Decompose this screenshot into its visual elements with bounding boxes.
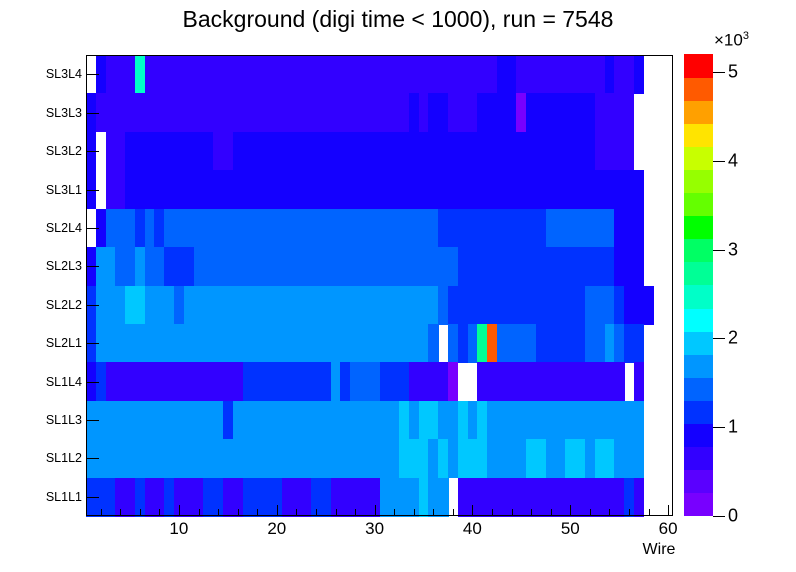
color-band bbox=[684, 424, 713, 448]
y-axis-label-sl1l1: SL1L1 bbox=[46, 490, 82, 504]
x-axis-tick bbox=[512, 509, 513, 516]
color-scale-tick-label: 4 bbox=[728, 150, 738, 171]
heatmap-cell bbox=[624, 132, 634, 171]
heatmap-cell bbox=[634, 170, 644, 209]
x-axis-tick bbox=[551, 509, 552, 516]
x-axis-tick bbox=[257, 509, 258, 516]
x-axis-tick bbox=[590, 509, 591, 516]
y-axis-tick bbox=[86, 266, 99, 267]
x-axis-tick bbox=[609, 509, 610, 516]
x-axis-tick bbox=[336, 509, 337, 516]
color-scale-tick-label: 1 bbox=[728, 417, 738, 438]
y-axis-label-sl2l1: SL2L1 bbox=[46, 336, 82, 350]
y-axis-tick bbox=[86, 458, 99, 459]
color-band bbox=[684, 193, 713, 217]
color-band bbox=[684, 493, 713, 517]
y-axis-label-sl3l2: SL3L2 bbox=[46, 144, 82, 158]
color-band bbox=[684, 123, 713, 147]
x-axis-tick bbox=[414, 509, 415, 516]
color-scale-exponent: ×103 bbox=[714, 30, 749, 51]
color-band bbox=[684, 331, 713, 355]
y-axis-label-sl2l4: SL2L4 bbox=[46, 221, 82, 235]
x-axis-tick bbox=[355, 509, 356, 516]
color-band bbox=[684, 285, 713, 309]
y-axis-tick bbox=[86, 343, 99, 344]
y-axis-tick bbox=[86, 382, 99, 383]
y-axis-tick bbox=[86, 420, 99, 421]
color-scale-tick bbox=[713, 161, 725, 162]
color-band bbox=[684, 170, 713, 194]
y-axis-tick bbox=[86, 228, 99, 229]
x-axis-tick bbox=[277, 505, 278, 516]
heatmap-cell bbox=[448, 362, 458, 401]
x-axis-tick bbox=[394, 509, 395, 516]
heatmap-cell bbox=[644, 286, 654, 325]
heatmap-cell bbox=[634, 401, 644, 440]
color-band bbox=[684, 470, 713, 494]
y-axis-label-sl2l2: SL2L2 bbox=[46, 298, 82, 312]
x-axis-tick bbox=[316, 509, 317, 516]
x-axis-tick-label: 40 bbox=[463, 519, 482, 539]
color-scale-tick-label: 3 bbox=[728, 239, 738, 260]
color-scale-tick bbox=[713, 427, 725, 428]
x-axis-tick-label: 30 bbox=[365, 519, 384, 539]
x-axis-tick bbox=[179, 505, 180, 516]
color-band bbox=[684, 146, 713, 170]
heatmap-cell bbox=[634, 362, 644, 401]
heatmap-cell bbox=[438, 478, 448, 517]
color-band bbox=[684, 401, 713, 425]
color-band bbox=[684, 239, 713, 263]
y-axis: SL3L4SL3L3SL3L2SL3L1SL2L4SL2L3SL2L2SL2L1… bbox=[0, 55, 82, 516]
heatmap-cells bbox=[86, 55, 673, 516]
heatmap-cell bbox=[634, 209, 644, 248]
x-axis-tick-label: 20 bbox=[267, 519, 286, 539]
root-canvas: Background (digi time < 1000), run = 754… bbox=[0, 0, 796, 572]
x-axis-tick bbox=[453, 509, 454, 516]
y-axis-tick bbox=[86, 74, 99, 75]
heatmap-cell bbox=[634, 55, 644, 94]
x-axis-tick bbox=[199, 509, 200, 516]
x-axis-tick bbox=[120, 509, 121, 516]
y-axis-label-sl3l3: SL3L3 bbox=[46, 106, 82, 120]
y-axis-tick bbox=[86, 113, 99, 114]
heatmap-cell bbox=[428, 324, 438, 363]
color-scale-tick bbox=[713, 516, 725, 517]
x-axis-tick bbox=[531, 509, 532, 516]
heatmap-cell bbox=[614, 362, 624, 401]
x-axis-tick-label: 60 bbox=[659, 519, 678, 539]
color-band bbox=[684, 308, 713, 332]
x-axis-tick bbox=[296, 509, 297, 516]
y-axis-tick bbox=[86, 190, 99, 191]
heatmap-cell bbox=[634, 324, 644, 363]
color-band bbox=[684, 262, 713, 286]
y-axis-tick bbox=[86, 497, 99, 498]
color-band bbox=[684, 354, 713, 378]
x-axis-tick bbox=[140, 509, 141, 516]
color-band bbox=[684, 447, 713, 471]
y-axis-tick bbox=[86, 151, 99, 152]
x-axis-tick bbox=[238, 509, 239, 516]
color-band bbox=[684, 54, 713, 78]
color-scale-tick-label: 2 bbox=[728, 328, 738, 349]
heatmap-cell bbox=[634, 478, 644, 517]
x-axis-tick bbox=[159, 509, 160, 516]
x-axis-title: Wire bbox=[643, 541, 676, 559]
x-axis-tick bbox=[570, 505, 571, 516]
x-axis-tick bbox=[101, 509, 102, 516]
x-axis-tick bbox=[668, 505, 669, 516]
y-axis-label-sl2l3: SL2L3 bbox=[46, 259, 82, 273]
x-axis-tick bbox=[375, 505, 376, 516]
color-scale-tick bbox=[713, 72, 725, 73]
x-axis-tick bbox=[433, 509, 434, 516]
color-scale-tick bbox=[713, 338, 725, 339]
color-band bbox=[684, 100, 713, 124]
color-band bbox=[684, 77, 713, 101]
heatmap-cell bbox=[624, 93, 634, 132]
x-axis-tick bbox=[649, 509, 650, 516]
heatmap-cell bbox=[634, 247, 644, 286]
page-title: Background (digi time < 1000), run = 754… bbox=[0, 6, 796, 33]
x-axis-tick bbox=[218, 509, 219, 516]
color-scale-tick-label: 0 bbox=[728, 506, 738, 527]
color-band bbox=[684, 377, 713, 401]
heatmap-cell bbox=[634, 439, 644, 478]
x-axis-tick-label: 10 bbox=[169, 519, 188, 539]
x-axis-tick bbox=[492, 509, 493, 516]
color-scale-tick bbox=[713, 250, 725, 251]
heatmap-plot-area[interactable] bbox=[86, 55, 673, 516]
y-axis-label-sl1l4: SL1L4 bbox=[46, 375, 82, 389]
y-axis-label-sl3l4: SL3L4 bbox=[46, 67, 82, 81]
x-axis-tick bbox=[472, 505, 473, 516]
color-scale-tick-label: 5 bbox=[728, 61, 738, 82]
y-axis-label-sl3l1: SL3L1 bbox=[46, 183, 82, 197]
x-axis-tick-label: 50 bbox=[561, 519, 580, 539]
x-axis-tick bbox=[629, 509, 630, 516]
color-scale-bar[interactable] bbox=[684, 54, 713, 516]
color-band bbox=[684, 216, 713, 240]
y-axis-label-sl1l3: SL1L3 bbox=[46, 413, 82, 427]
y-axis-tick bbox=[86, 305, 99, 306]
y-axis-label-sl1l2: SL1L2 bbox=[46, 451, 82, 465]
